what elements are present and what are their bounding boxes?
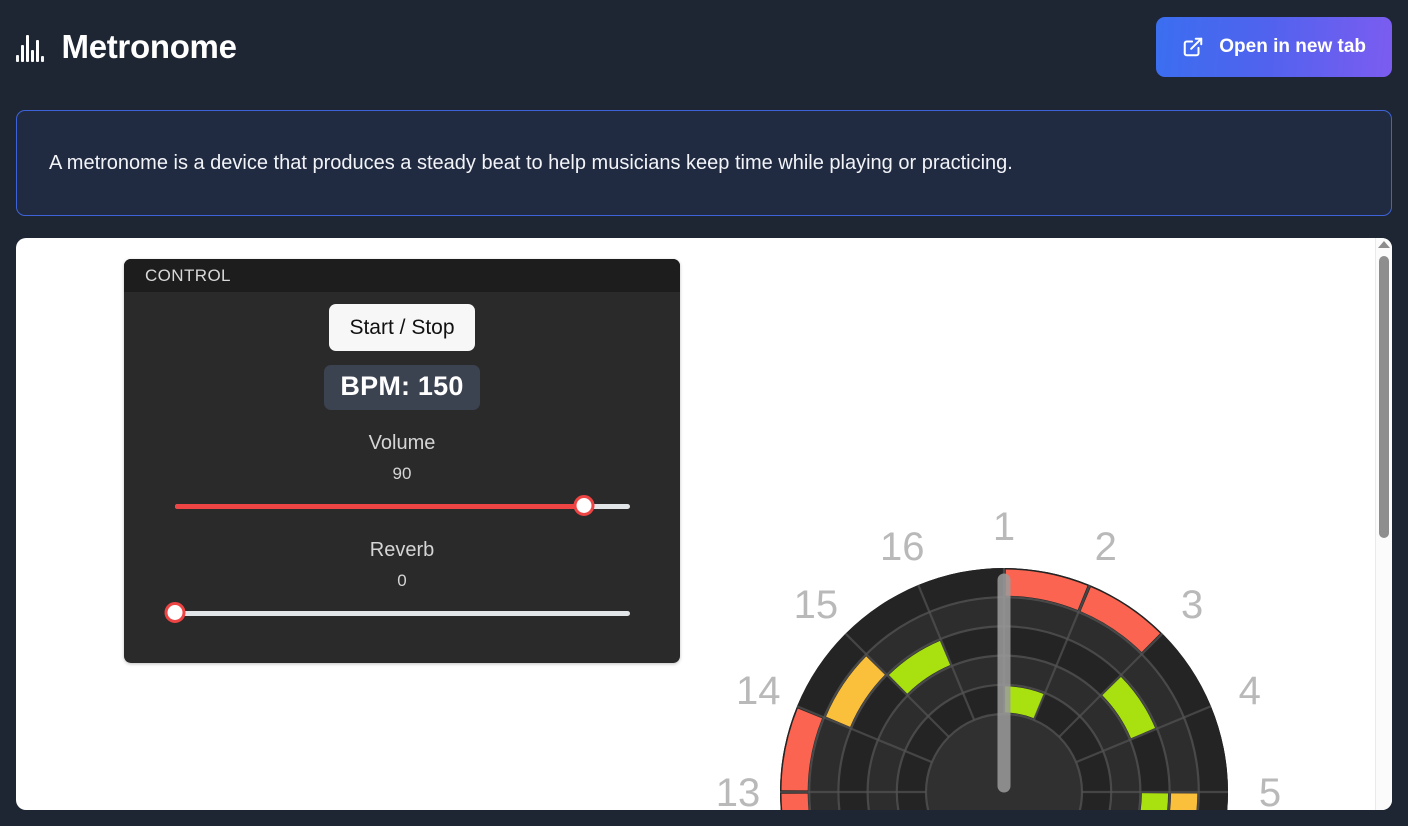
volume-label: Volume [369,432,436,455]
brand: Metronome [16,28,237,66]
reverb-slider[interactable] [175,602,630,624]
control-panel-title: CONTROL [145,266,231,286]
step-label-1: 1 [993,505,1015,549]
description-text: A metronome is a device that produces a … [49,152,1013,175]
external-link-icon [1182,36,1204,58]
step-label-16: 16 [880,525,925,569]
radial-sequencer-canvas[interactable]: 12345678910111213141516 [666,238,1366,810]
scrollbar-thumb[interactable] [1379,256,1389,538]
reverb-slider-track[interactable] [175,611,630,616]
volume-slider-fill [175,504,585,509]
step-label-5: 5 [1259,771,1281,810]
description-box: A metronome is a device that produces a … [16,110,1392,216]
step-label-15: 15 [794,583,839,627]
scroll-up-arrow-icon[interactable] [1378,241,1390,248]
app-content-card: CONTROL Start / Stop BPM: 150 Volume 90 … [16,238,1392,810]
waveform-icon [16,32,44,62]
step-label-2: 2 [1095,525,1117,569]
page-title: Metronome [62,28,237,66]
vertical-scrollbar[interactable] [1375,238,1392,810]
volume-slider[interactable] [175,495,630,517]
volume-value: 90 [393,464,412,484]
control-panel: CONTROL Start / Stop BPM: 150 Volume 90 … [124,259,680,663]
reverb-value: 0 [397,571,406,591]
reverb-label: Reverb [370,539,434,562]
app-header: Metronome Open in new tab [0,0,1408,94]
radial-sequencer[interactable]: 12345678910111213141516 [666,238,1366,810]
reverb-slider-thumb[interactable] [164,602,185,623]
start-stop-button[interactable]: Start / Stop [329,304,475,351]
volume-slider-thumb[interactable] [574,495,595,516]
control-panel-header: CONTROL [124,259,680,292]
step-label-4: 4 [1239,669,1261,713]
open-in-new-tab-label: Open in new tab [1219,36,1366,58]
step-label-3: 3 [1181,583,1203,627]
open-in-new-tab-button[interactable]: Open in new tab [1156,17,1392,77]
step-label-13: 13 [716,771,761,810]
bpm-display: BPM: 150 [324,365,479,410]
step-label-14: 14 [736,669,781,713]
